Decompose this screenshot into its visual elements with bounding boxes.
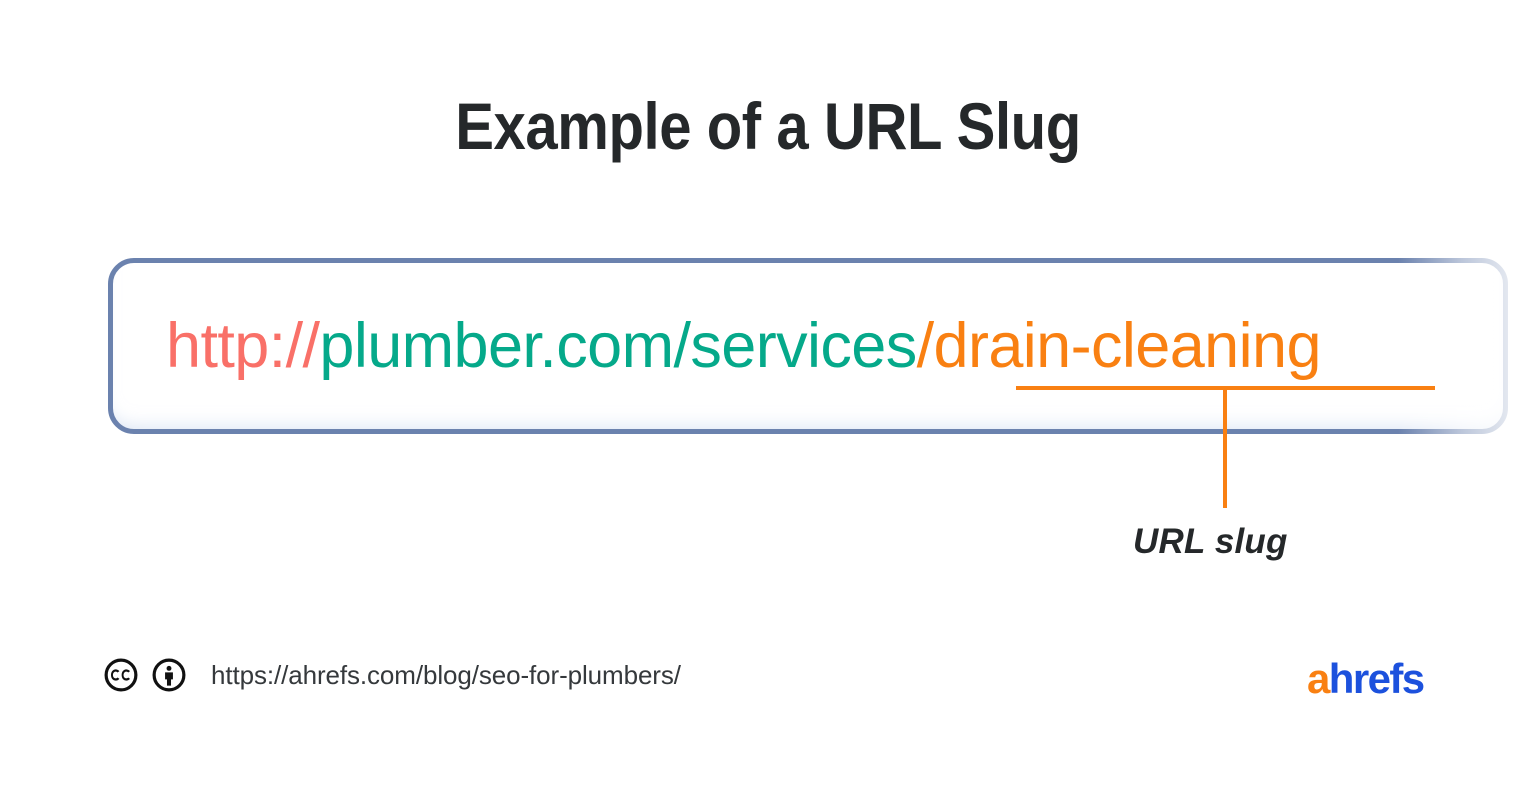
ahrefs-logo: ahrefs [1307,655,1423,703]
url-protocol-segment: http:// [166,310,319,382]
logo-wordmark: hrefs [1329,655,1424,702]
page-title: Example of a URL Slug [92,88,1444,164]
cc-icon [104,658,138,692]
footer-source-url: https://ahrefs.com/blog/seo-for-plumbers… [211,660,681,691]
footer: https://ahrefs.com/blog/seo-for-plumbers… [104,658,681,692]
infographic-canvas: Example of a URL Slug http://plumber.com… [0,0,1536,801]
logo-accent-letter: a [1307,655,1329,702]
annotation-label: URL slug [1133,522,1288,562]
url-domain-path-segment: plumber.com/services [319,310,916,382]
url-address-bar: http://plumber.com/services/drain-cleani… [108,258,1508,434]
cc-by-person-icon [152,658,186,692]
url-slug-segment: /drain-cleaning [917,310,1321,382]
url-text: http://plumber.com/services/drain-cleani… [166,272,1321,420]
annotation-vertical-line [1223,386,1227,508]
